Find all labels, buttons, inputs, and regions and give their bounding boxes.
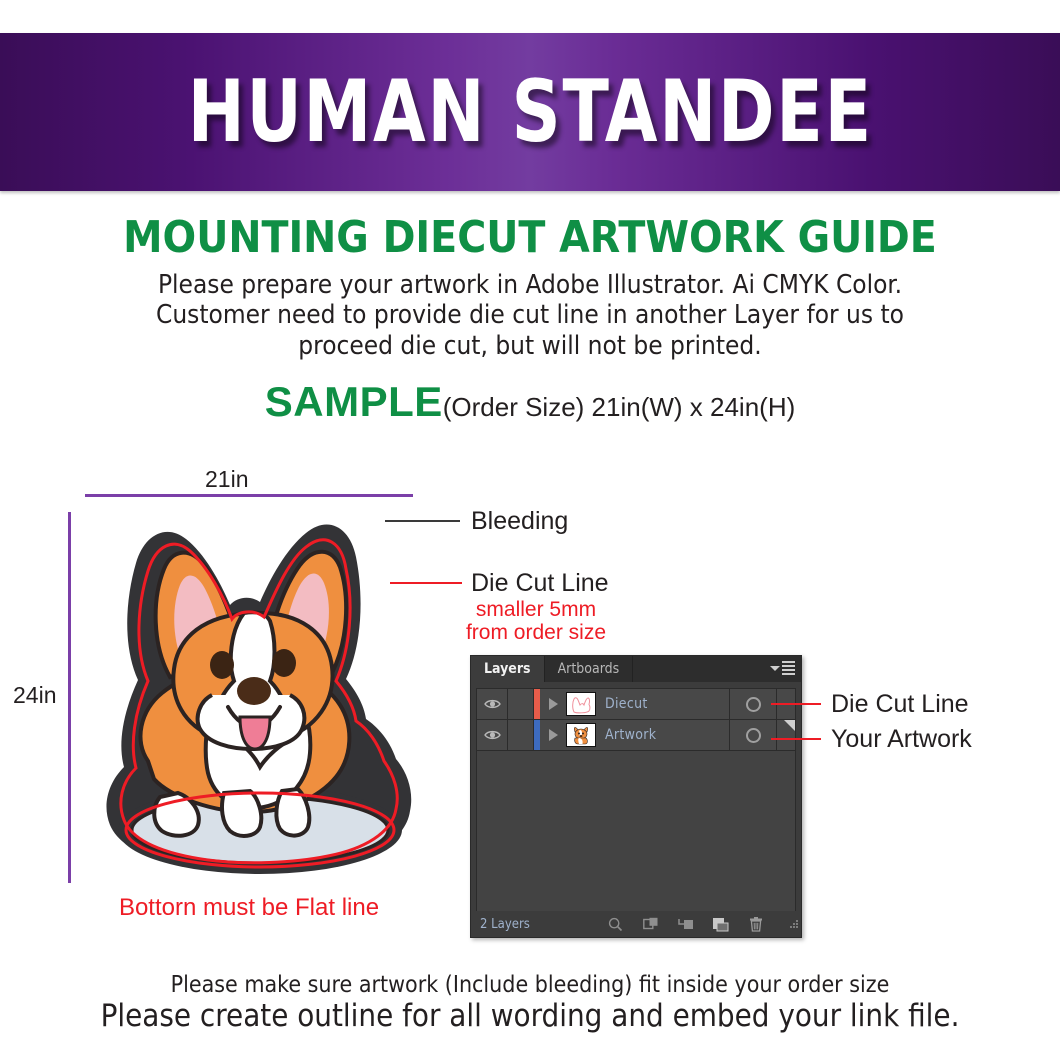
corgi-eye-left [210, 651, 234, 679]
bleeding-leader-line [385, 520, 460, 522]
intro-paragraph: Please prepare your artwork in Adobe Ill… [130, 270, 930, 361]
intro-line-3: proceed die cut, but will not be printed… [130, 331, 930, 361]
intro-line-2: Customer need to provide die cut line in… [130, 300, 930, 330]
chevron-right-icon [549, 729, 558, 741]
layer-lock-toggle-artwork[interactable] [508, 720, 534, 750]
footer-note-1: Please make sure artwork (Include bleedi… [0, 972, 1060, 998]
layer-target-artwork[interactable] [729, 720, 776, 750]
eye-icon [484, 698, 501, 710]
die-cut-line-label: Die Cut Line [471, 569, 609, 598]
corgi-front-paw-left [222, 791, 261, 836]
chevron-right-icon [549, 698, 558, 710]
layer-target-diecut[interactable] [729, 689, 776, 719]
layer-name-artwork: Artwork [605, 727, 729, 743]
panel-your-artwork-label: Your Artwork [831, 725, 972, 754]
layer-visibility-toggle-artwork[interactable] [477, 720, 508, 750]
die-cut-leader-line [390, 582, 462, 584]
width-dimension-line [85, 494, 413, 497]
layer-list-empty-area [477, 751, 795, 911]
height-dimension-label: 24in [13, 682, 56, 709]
sample-label: SAMPLE [265, 378, 443, 425]
table-row[interactable]: Diecut [477, 689, 795, 720]
panel-die-cut-label: Die Cut Line [831, 690, 969, 719]
layers-panel[interactable]: Layers Artboards [470, 655, 802, 938]
panel-menu-icon[interactable] [770, 661, 795, 675]
width-dimension-label: 21in [205, 466, 248, 493]
hamburger-icon [782, 661, 795, 675]
layer-list: Diecut [476, 688, 796, 912]
sample-order-size: (Order Size) 21in(W) x 24in(H) [443, 392, 796, 422]
page-title: HUMAN STANDEE [187, 69, 872, 155]
bleeding-label: Bleeding [471, 507, 568, 536]
eye-icon [484, 729, 501, 741]
layer-select-indicator-artwork[interactable] [776, 720, 795, 750]
clipping-mask-icon [643, 917, 659, 932]
table-row[interactable]: Artwork [477, 720, 795, 751]
panel-resize-grip[interactable] [788, 916, 799, 935]
delete-selection-button[interactable] [738, 911, 773, 937]
intro-line-1: Please prepare your artwork in Adobe Ill… [130, 270, 930, 300]
panel-artwork-leader-line [771, 738, 821, 740]
corgi-eye-right [272, 649, 296, 677]
target-circle-icon [746, 697, 761, 712]
diecut-outline-thumbnail-icon [569, 695, 593, 714]
chevron-down-icon [770, 666, 780, 671]
layer-count-label: 2 Layers [471, 917, 598, 932]
new-layer-icon [712, 917, 729, 932]
layer-lock-toggle-diecut[interactable] [508, 689, 534, 719]
panel-die-cut-leader-line [771, 703, 821, 705]
magnifier-icon [608, 917, 623, 932]
tab-layers[interactable]: Layers [471, 656, 545, 682]
new-sublayer-icon [677, 917, 695, 932]
die-cut-note: smaller 5mm from order size [420, 598, 652, 644]
corgi-nose [237, 677, 271, 705]
corgi-tongue [240, 717, 270, 749]
selection-square-icon [784, 720, 795, 731]
header-banner: HUMAN STANDEE [0, 33, 1060, 191]
panel-footer: 2 Layers [471, 911, 801, 937]
layer-disclosure-diecut[interactable] [540, 689, 566, 719]
footer-note-2: Please create outline for all wording an… [0, 998, 1060, 1034]
trash-icon [749, 916, 763, 932]
resize-grip-icon [788, 920, 799, 931]
layer-disclosure-artwork[interactable] [540, 720, 566, 750]
corgi-artwork-thumbnail-icon [569, 726, 593, 745]
target-circle-icon [746, 728, 761, 743]
flat-line-note: Bottorn must be Flat line [69, 894, 429, 922]
sample-row: SAMPLE(Order Size) 21in(W) x 24in(H) [0, 378, 1060, 426]
create-new-layer-button[interactable] [703, 911, 738, 937]
tab-artboards[interactable]: Artboards [545, 656, 634, 682]
height-dimension-line [68, 512, 71, 883]
locate-object-button[interactable] [598, 911, 633, 937]
layer-name-diecut: Diecut [605, 696, 729, 712]
die-cut-note-line-1: smaller 5mm [420, 598, 652, 621]
die-cut-note-line-2: from order size [420, 621, 652, 644]
create-new-sublayer-button[interactable] [668, 911, 703, 937]
corgi-artwork-figure [74, 505, 424, 890]
make-clipping-mask-button[interactable] [633, 911, 668, 937]
layer-thumbnail-diecut [566, 692, 596, 716]
layer-thumbnail-artwork [566, 723, 596, 747]
panel-tab-bar: Layers Artboards [471, 656, 801, 682]
layer-visibility-toggle-diecut[interactable] [477, 689, 508, 719]
guide-title: MOUNTING DIECUT ARTWORK GUIDE [0, 212, 1060, 263]
